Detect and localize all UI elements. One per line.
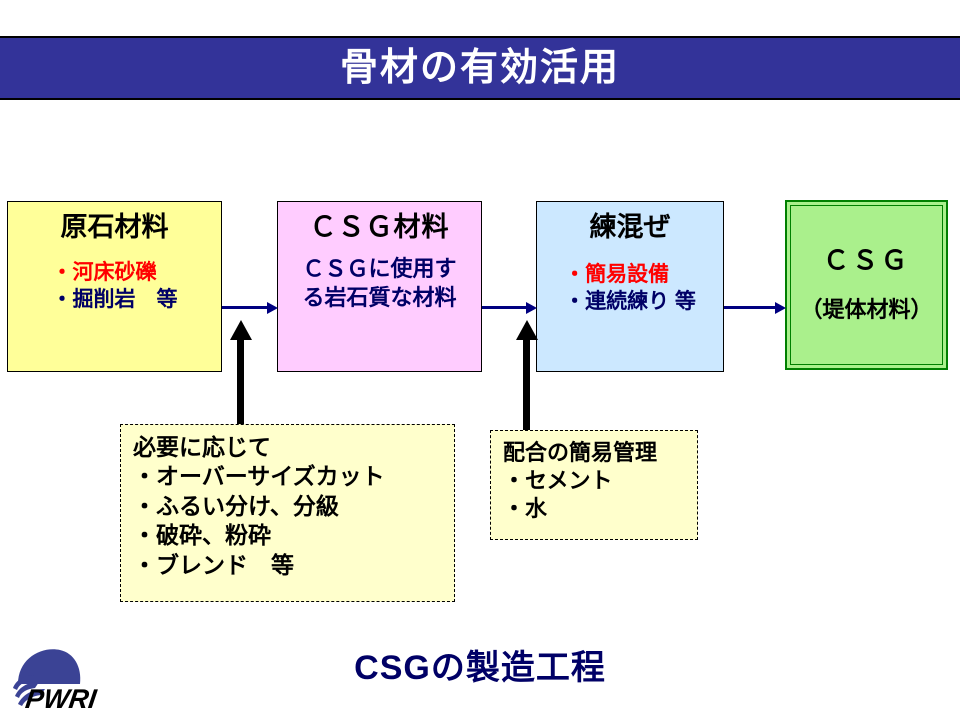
page-title: 骨材の有効活用 (340, 49, 620, 87)
flow-box-csg-product-sub: （堤体材料） (800, 292, 932, 324)
flow-box-mixing-body: ・簡易設備 ・連続練り 等 (564, 261, 696, 316)
flow-box-mixing: 練混ぜ ・簡易設備 ・連続練り 等 (536, 201, 724, 372)
note-processing-line-5: ・ブレンド 等 (133, 551, 444, 580)
arrow-shaft (523, 338, 530, 438)
flow-box-csg-material-line-1: ＣＳＧに使用す (302, 255, 456, 284)
flow-box-mixing-line-1: ・簡易設備 (564, 261, 696, 288)
flow-box-csg-material-line-2: る岩石質な材料 (302, 284, 456, 313)
flow-box-genseki-line-2: ・掘削岩 等 (52, 286, 178, 313)
arrow-head-icon (516, 320, 538, 340)
slide-canvas: 骨材の有効活用 原石材料 ・河床砂礫 ・掘削岩 等 ＣＳＧ材料 ＣＳＧに使用す … (0, 0, 960, 720)
flow-box-genseki-line-1: ・河床砂礫 (52, 259, 178, 286)
pwri-wordmark: PWRI (24, 683, 99, 712)
note-processing-line-2: ・オーバーサイズカット (133, 462, 444, 491)
flow-box-csg-material-heading: ＣＳＧ材料 (310, 212, 450, 243)
flow-box-csg-product-heading: ＣＳＧ (823, 246, 910, 276)
flow-box-genseki-body: ・河床砂礫 ・掘削岩 等 (52, 259, 178, 314)
flow-box-genseki: 原石材料 ・河床砂礫 ・掘削岩 等 (7, 201, 222, 372)
note-mix-proportion-line-2: ・セメント (503, 467, 687, 495)
note-mix-proportion-line-3: ・水 (503, 495, 687, 523)
flow-box-csg-product-inner: ＣＳＧ （堤体材料） (790, 205, 943, 365)
note-mix-proportion-line-1: 配合の簡易管理 (503, 439, 687, 467)
flow-box-mixing-heading: 練混ぜ (590, 212, 671, 243)
slide-title-bar: 骨材の有効活用 (0, 36, 960, 100)
note-processing-line-4: ・破砕、粉砕 (133, 521, 444, 550)
arrow-head-icon (230, 320, 252, 340)
pwri-logo-mark: PWRI (8, 640, 138, 712)
arrow-up-processing-to-genseki (230, 320, 252, 430)
arrow-right-mixing-to-csg-product (724, 302, 786, 314)
arrow-right-genseki-to-csg-material (222, 302, 278, 314)
figure-caption: CSGの製造工程 (0, 640, 960, 689)
arrow-shaft (724, 306, 775, 309)
flow-box-genseki-heading: 原石材料 (61, 212, 169, 243)
arrow-head-icon (267, 302, 278, 314)
arrow-shaft (482, 306, 526, 309)
note-processing-line-3: ・ふるい分け、分級 (133, 492, 444, 521)
pwri-logo: PWRI (8, 640, 138, 712)
arrow-up-mixproportion-to-mixing (516, 320, 538, 438)
flow-box-csg-material: ＣＳＧ材料 ＣＳＧに使用す る岩石質な材料 (277, 201, 482, 372)
flow-box-mixing-line-2: ・連続練り 等 (564, 288, 696, 315)
arrow-head-icon (526, 302, 537, 314)
flow-box-csg-material-body: ＣＳＧに使用す る岩石質な材料 (302, 255, 456, 312)
note-box-mix-proportion: 配合の簡易管理 ・セメント ・水 (490, 430, 698, 540)
arrow-right-csg-material-to-mixing (482, 302, 537, 314)
note-box-processing: 必要に応じて ・オーバーサイズカット ・ふるい分け、分級 ・破砕、粉砕 ・ブレン… (120, 424, 455, 602)
flow-box-csg-product: ＣＳＧ （堤体材料） (785, 200, 948, 370)
note-processing-line-1: 必要に応じて (133, 433, 444, 462)
arrow-shaft (237, 338, 244, 430)
arrow-shaft (222, 306, 267, 309)
arrow-head-icon (775, 302, 786, 314)
